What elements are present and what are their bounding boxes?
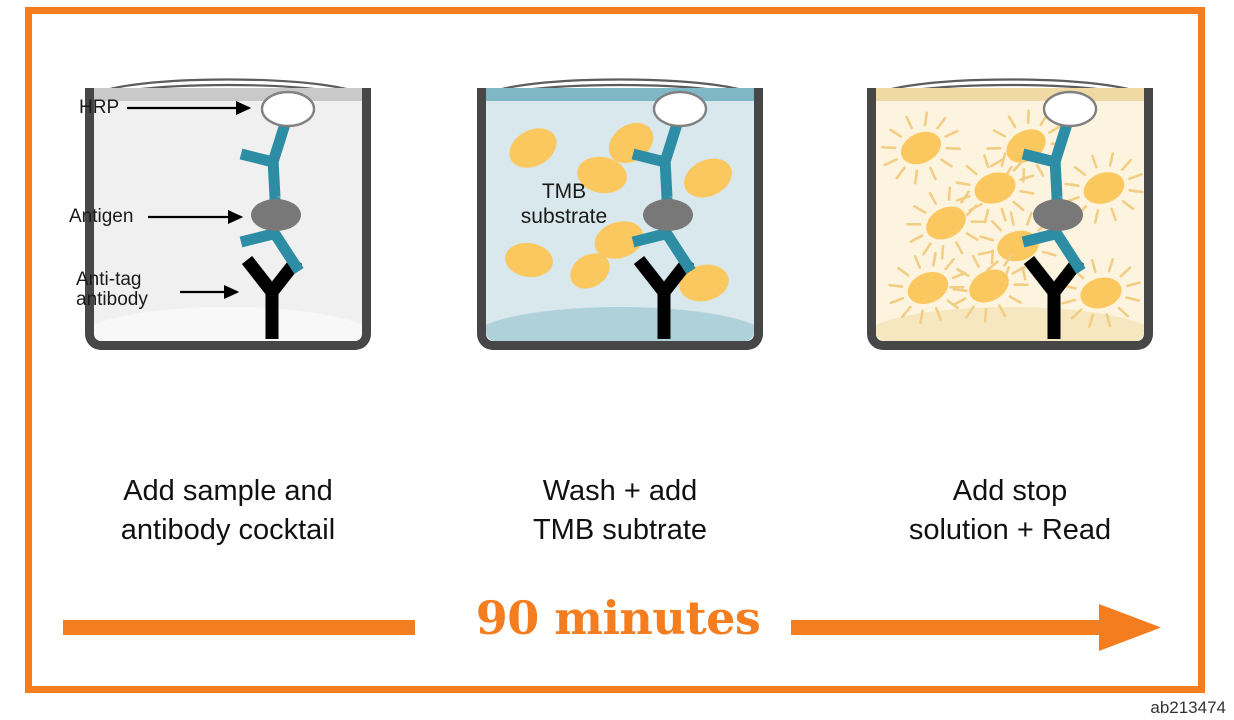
step-caption-2: Wash + add TMB subtrate (455, 472, 785, 550)
workflow-step-3: Add stop solution + Read (845, 62, 1175, 382)
timeline-label: 90 minutes (63, 590, 1173, 646)
step-caption-1: Add sample and antibody cocktail (63, 472, 393, 550)
in-well-label-2: TMB substrate (489, 179, 639, 229)
callout-label-anti-tag-antibody: Anti-tag antibody (76, 270, 148, 310)
callout-label-hrp: HRP (79, 98, 119, 118)
well-wall-3 (867, 88, 1153, 350)
microplate-well-2: TMB substrate (465, 62, 775, 382)
diagram-stage: HRP Antigen Anti-tag antibody Add sample… (0, 0, 1234, 720)
workflow-step-1: HRP Antigen Anti-tag antibody Add sample… (63, 62, 393, 382)
microplate-well-1: HRP Antigen Anti-tag antibody (73, 62, 383, 382)
workflow-step-2: TMB substrate Wash + add TMB subtrate (455, 62, 785, 382)
timeline-arrow: 90 minutes (63, 590, 1173, 660)
step-caption-3: Add stop solution + Read (845, 472, 1175, 550)
microplate-well-3 (855, 62, 1165, 382)
product-code: ab213474 (1150, 698, 1226, 718)
callout-label-antigen: Antigen (69, 207, 133, 227)
